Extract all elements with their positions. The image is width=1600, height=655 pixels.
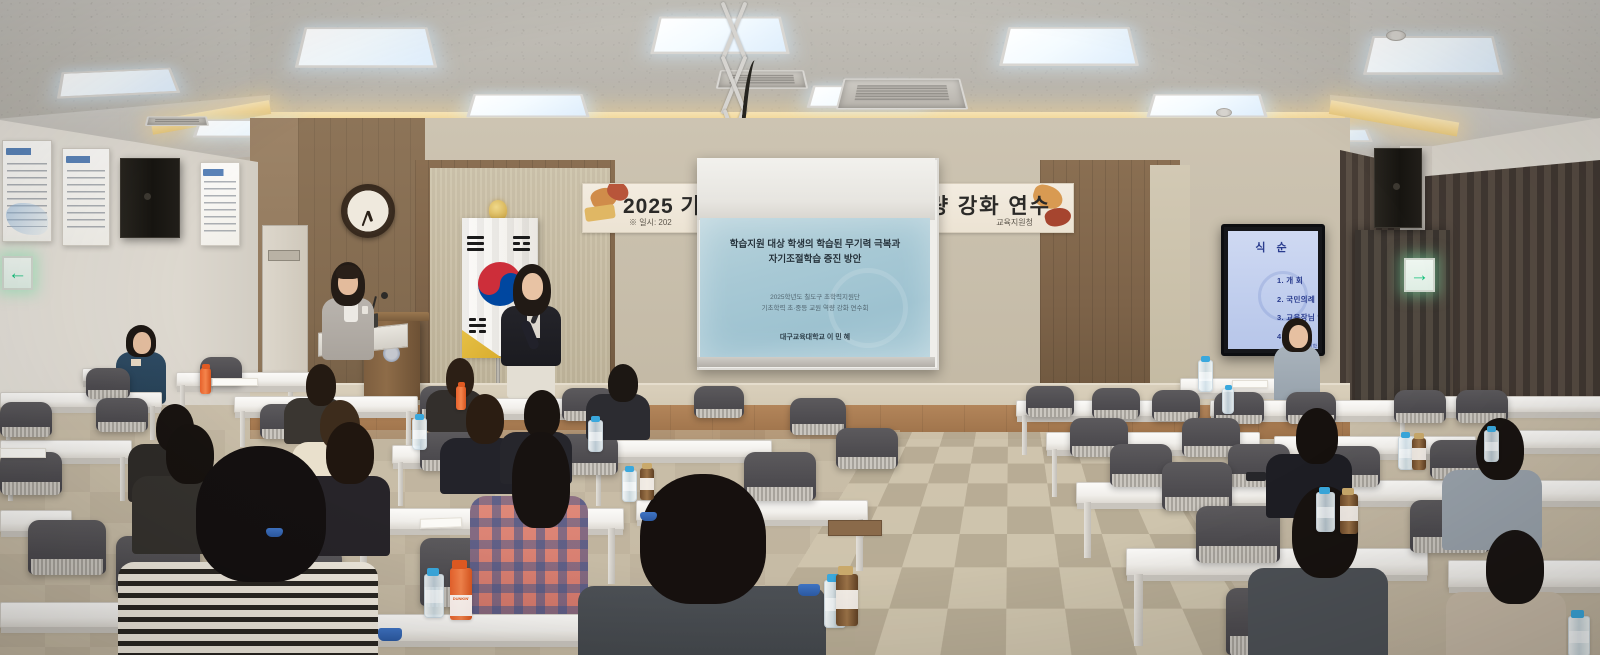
chair[interactable] — [0, 452, 62, 494]
chair[interactable] — [86, 368, 130, 398]
audience-head — [640, 474, 766, 604]
program-title: 식 순 — [1228, 239, 1318, 255]
chair[interactable] — [1394, 390, 1446, 422]
wall-clock — [341, 184, 395, 238]
chair[interactable] — [28, 520, 106, 574]
program-item-label: 1. 개 회 — [1277, 276, 1303, 285]
exit-arrow-right-icon: → — [1410, 266, 1429, 285]
led-panel-light — [1146, 94, 1268, 117]
chair[interactable] — [694, 386, 744, 417]
projection-screen: 학습지원 대상 학생의 학습된 무기력 극복과 자기조절학습 증진 방안 202… — [700, 218, 930, 358]
seated-staff-left-badge — [131, 359, 141, 366]
bottle-cap-cup — [378, 628, 402, 641]
bottle-cap-cup — [798, 584, 820, 596]
seated-staff-head — [1289, 325, 1308, 348]
projection-screen-roller — [697, 158, 935, 220]
dunkin-coffee-bottle[interactable] — [200, 368, 211, 394]
stage-wall-fabric-right — [1150, 165, 1190, 405]
handout-paper — [420, 517, 462, 528]
chair[interactable] — [1026, 386, 1074, 416]
exit-arrow-left-icon: ← — [8, 264, 27, 283]
chair[interactable] — [790, 398, 846, 434]
led-panel-light — [999, 27, 1139, 66]
chair[interactable] — [96, 398, 148, 431]
bottle-cap-cup — [640, 512, 657, 521]
slide-title-line-1: 학습지원 대상 학생의 학습된 무기력 극복과 — [730, 239, 901, 250]
projection-screen-weight-bar — [697, 357, 935, 367]
right-wall-wood-slats-far — [1425, 160, 1600, 430]
handout-paper — [0, 448, 46, 458]
handout-paper — [212, 378, 258, 386]
banner-subtitle-right: 교육지원청 — [996, 217, 1033, 228]
program-item: 1. 개 회 — [1277, 275, 1314, 286]
wall-speaker-left — [120, 158, 180, 238]
water-bottle[interactable] — [1316, 492, 1335, 532]
seminar-room-photo: ← → 2025 기초 ※ 일시: 202 량 강화 연수 교육지원청 학습지원… — [0, 0, 1600, 655]
coffee-bottle[interactable] — [1412, 438, 1426, 470]
chair[interactable] — [1092, 388, 1140, 418]
coffee-bottle[interactable] — [640, 468, 654, 500]
program-item: 2. 국민의례 — [1277, 294, 1314, 305]
audience-head — [524, 390, 560, 438]
banner-subtitle-left: ※ 일시: 202 — [629, 217, 672, 228]
chair[interactable] — [0, 402, 52, 436]
audience-head — [196, 446, 326, 582]
led-panel-light — [1363, 36, 1503, 75]
audience-head — [608, 364, 638, 402]
water-bottle[interactable] — [1222, 388, 1234, 414]
program-item-label: 2. 국민의례 — [1277, 295, 1315, 304]
wall-poster-2 — [62, 148, 110, 246]
slide-subtitle: 2025학년도 칠도구 초학력지원단 기초학력 초·중등 교원 역량 강화 연수… — [710, 292, 920, 314]
dunkin-coffee-bottle[interactable]: DUNKIN' — [450, 568, 472, 620]
presenter-fringe — [336, 265, 360, 279]
slide-subtitle-line-2: 기초학력 초·중등 교원 역량 강화 연수회 — [762, 305, 869, 312]
chair[interactable] — [1152, 390, 1200, 420]
smoke-detector — [1216, 108, 1232, 117]
smoke-detector — [1386, 30, 1406, 41]
seated-staff-left-head — [133, 332, 151, 354]
audience-head — [1296, 408, 1338, 464]
presenter-name-badge — [362, 306, 368, 314]
led-panel-light — [295, 27, 438, 68]
podium-microphone — [381, 292, 388, 299]
audience-head — [466, 394, 504, 444]
desk — [0, 602, 122, 628]
wall-poster-1 — [2, 140, 52, 242]
slide-title-line-2: 자기조절학습 증진 방안 — [769, 254, 862, 265]
wall-speaker-right — [1374, 148, 1422, 228]
dunkin-coffee-bottle[interactable] — [456, 386, 466, 410]
water-bottle[interactable] — [424, 574, 444, 618]
chair[interactable] — [744, 452, 816, 500]
handout-paper — [1232, 380, 1268, 388]
emergency-exit-sign-left: ← — [2, 256, 33, 290]
bottle-cap-cup — [266, 528, 283, 537]
audience-torso — [1248, 568, 1388, 655]
emergency-exit-sign-right: → — [1404, 258, 1435, 292]
coffee-bottle[interactable] — [1340, 494, 1358, 534]
flag-pole-finial — [489, 200, 507, 220]
door-sign — [268, 250, 300, 261]
notebook — [828, 520, 882, 536]
chair[interactable] — [836, 428, 898, 468]
wall-poster-3 — [200, 162, 240, 246]
water-bottle[interactable] — [622, 470, 637, 502]
water-bottle[interactable] — [588, 420, 603, 452]
water-bottle[interactable] — [412, 418, 427, 450]
banner-title-right: 량 강화 연수 — [929, 190, 1051, 220]
slide-subtitle-line-1: 2025학년도 칠도구 초학력지원단 — [770, 294, 860, 301]
audience-head — [1486, 530, 1544, 604]
water-bottle[interactable] — [1484, 430, 1499, 462]
air-conditioner-vent — [145, 116, 209, 126]
audience-head — [512, 432, 570, 528]
water-bottle[interactable] — [1568, 616, 1590, 655]
water-bottle[interactable] — [1198, 360, 1213, 392]
audience-head — [306, 364, 336, 406]
chair[interactable] — [1162, 462, 1232, 510]
coffee-bottle[interactable] — [836, 574, 858, 626]
led-panel-light — [466, 94, 590, 117]
speaker-head — [522, 273, 543, 300]
audience-head — [326, 422, 374, 484]
air-conditioner-vent — [836, 79, 969, 110]
slide-author: 대구교육대학교 이 민 혜 — [710, 332, 920, 342]
dunkin-label: DUNKIN' — [450, 595, 472, 616]
slide-title: 학습지원 대상 학생의 학습된 무기력 극복과 자기조절학습 증진 방안 — [710, 238, 920, 267]
smartphone[interactable] — [1246, 472, 1266, 481]
